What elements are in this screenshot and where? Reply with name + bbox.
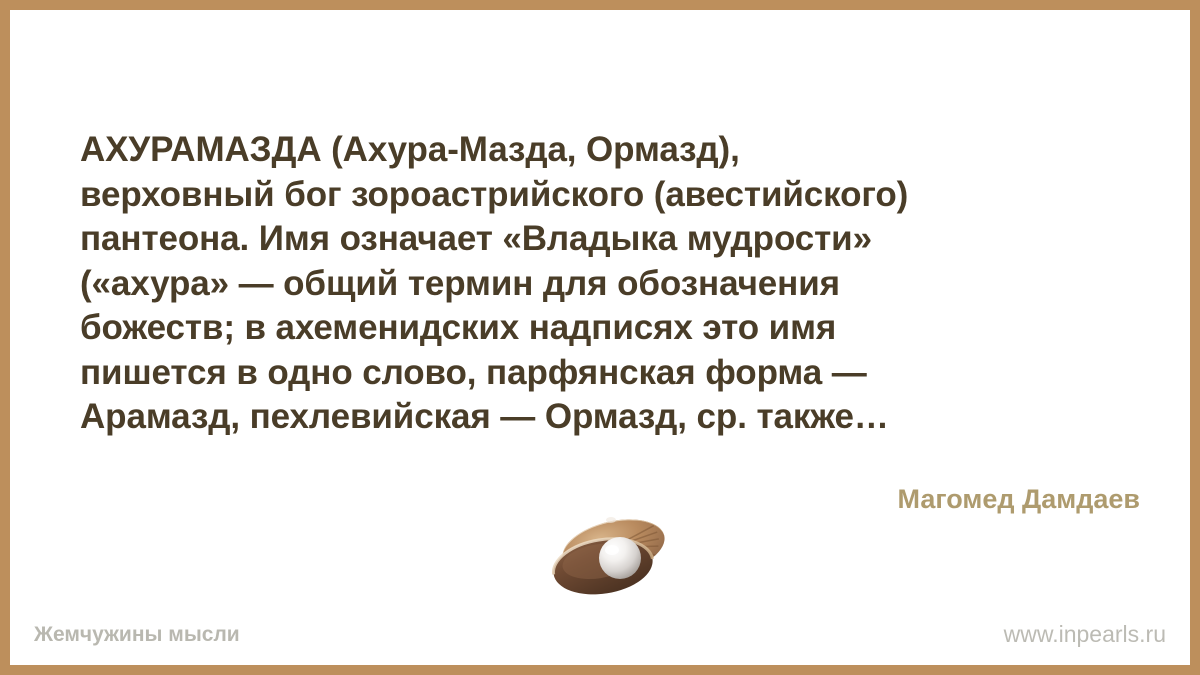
footer-site-url[interactable]: www.inpearls.ru (1004, 622, 1166, 647)
quote-card: АХУРАМАЗДА (Ахура-Мазда, Ормазд), верхов… (0, 0, 1200, 675)
shell-with-pearl-icon (541, 510, 681, 602)
quote-author: Магомед Дамдаев (898, 483, 1141, 515)
footer-site-name: Жемчужины мысли (34, 622, 240, 647)
quote-text: АХУРАМАЗДА (Ахура-Мазда, Ормазд), верхов… (80, 128, 1140, 440)
